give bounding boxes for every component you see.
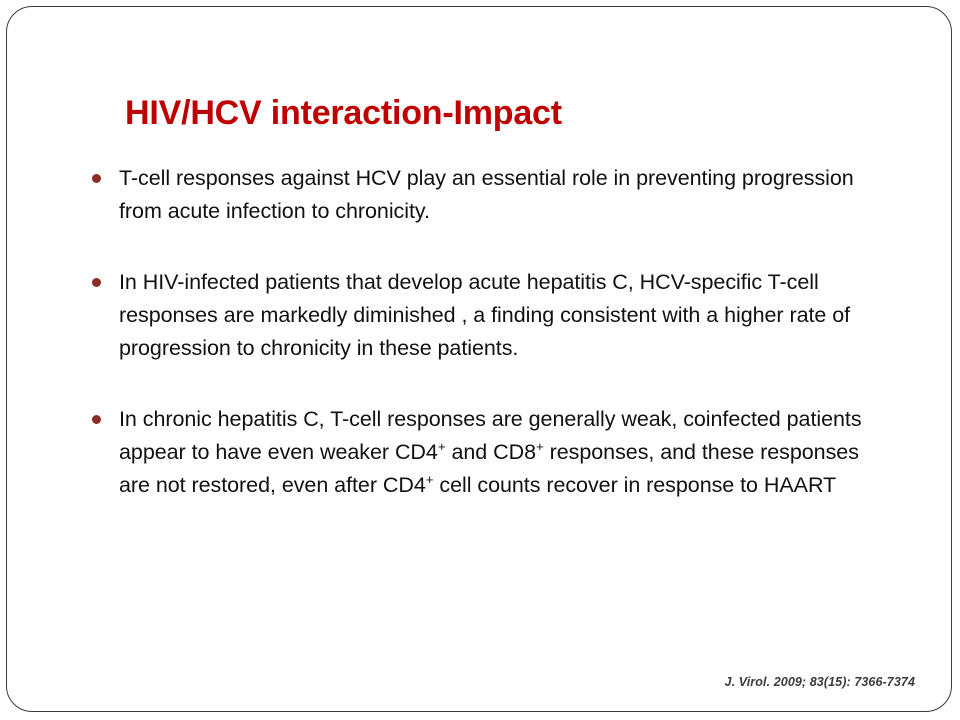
bullet-dot-icon bbox=[92, 415, 101, 424]
list-item-text: In chronic hepatitis C, T-cell responses… bbox=[119, 403, 895, 502]
list-item: In HIV-infected patients that develop ac… bbox=[85, 266, 895, 365]
list-item: T-cell responses against HCV play an ess… bbox=[85, 162, 895, 228]
list-item: In chronic hepatitis C, T-cell responses… bbox=[85, 403, 895, 502]
bullet-dot-icon bbox=[92, 174, 101, 183]
list-item-text: T-cell responses against HCV play an ess… bbox=[119, 162, 895, 228]
bullet-list: T-cell responses against HCV play an ess… bbox=[85, 162, 895, 502]
citation-reference: J. Virol. 2009; 83(15): 7366-7374 bbox=[725, 675, 915, 689]
page-title: HIV/HCV interaction-Impact bbox=[125, 94, 885, 133]
slide-frame: HIV/HCV interaction-Impact T-cell respon… bbox=[6, 6, 952, 712]
bullet-dot-icon bbox=[92, 278, 101, 287]
list-item-text: In HIV-infected patients that develop ac… bbox=[119, 266, 895, 365]
